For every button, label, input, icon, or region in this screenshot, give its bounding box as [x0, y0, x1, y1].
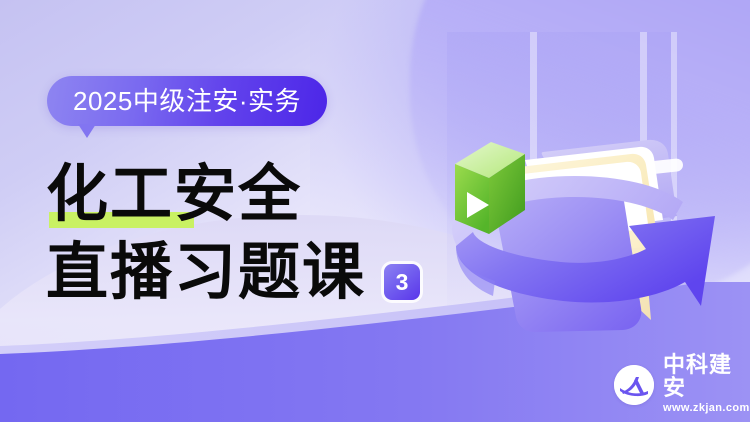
- title-line-1-text: 化工安全: [46, 163, 302, 225]
- brand-logo: 中科建安 www.zkjan.com: [614, 354, 750, 415]
- course-category-badge: 2025中级注安·实务: [47, 76, 327, 126]
- episode-number-badge: 3: [384, 264, 420, 300]
- brand-text: 中科建安 www.zkjan.com: [663, 354, 750, 415]
- badge-label: 2025中级注安·实务: [73, 88, 301, 114]
- title-line-1: 化工安全: [46, 155, 476, 233]
- title-line-2-text: 直播习题课: [46, 241, 366, 303]
- brand-name: 中科建安: [663, 354, 750, 400]
- course-banner: 2025中级注安·实务 化工安全 直播习题课 3 中科建安 www.zkjan.…: [0, 0, 750, 422]
- brand-url: www.zkjan.com: [663, 401, 750, 415]
- badge-tail: [78, 124, 96, 138]
- brand-mark-icon: [614, 365, 654, 405]
- episode-number: 3: [396, 271, 409, 294]
